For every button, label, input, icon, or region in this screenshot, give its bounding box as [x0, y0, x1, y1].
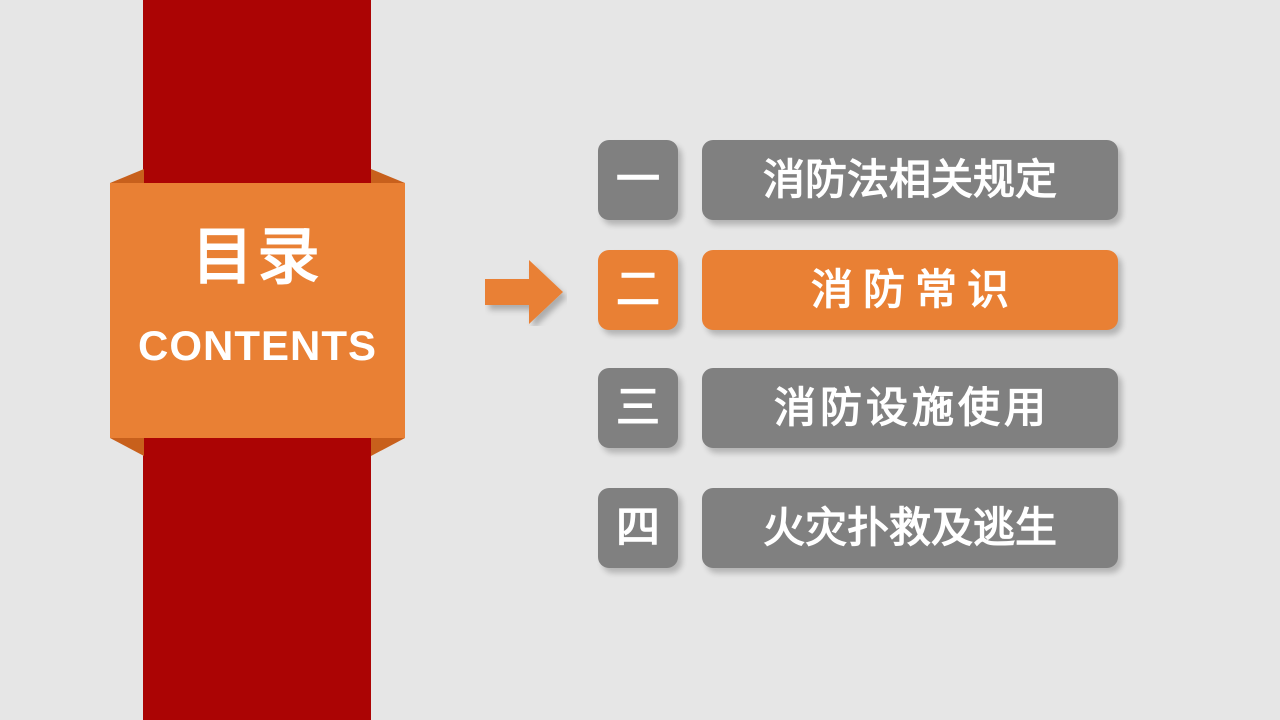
agenda-number-3[interactable]: 三 [598, 368, 678, 448]
agenda-number-2[interactable]: 二 [598, 250, 678, 330]
ribbon-tail-bottom-left [110, 438, 144, 456]
contents-ribbon: 目录 CONTENTS [110, 183, 405, 438]
agenda-label-4[interactable]: 火灾扑救及逃生 [702, 488, 1118, 568]
right-arrow-icon [485, 258, 567, 326]
contents-title-en: CONTENTS [110, 325, 405, 367]
agenda-item-4[interactable]: 四 火灾扑救及逃生 [598, 488, 1118, 568]
contents-title-cn: 目录 [110, 227, 405, 289]
ribbon-fold-top-right [371, 169, 405, 183]
ribbon-face [110, 183, 405, 438]
agenda-label-2[interactable]: 消防常识 [702, 250, 1118, 330]
agenda-item-1[interactable]: 一 消防法相关规定 [598, 140, 1118, 220]
agenda-item-2[interactable]: 二 消防常识 [598, 250, 1118, 330]
agenda-number-4[interactable]: 四 [598, 488, 678, 568]
agenda-label-1[interactable]: 消防法相关规定 [702, 140, 1118, 220]
agenda-label-3[interactable]: 消防设施使用 [702, 368, 1118, 448]
agenda-item-3[interactable]: 三 消防设施使用 [598, 368, 1118, 448]
presentation-slide: 目录 CONTENTS 一 消防法相关规定 二 消防常识 三 消防设施使用 四 … [0, 0, 1280, 720]
agenda-number-1[interactable]: 一 [598, 140, 678, 220]
ribbon-fold-top-left [110, 169, 144, 183]
ribbon-tail-bottom-right [371, 438, 405, 456]
